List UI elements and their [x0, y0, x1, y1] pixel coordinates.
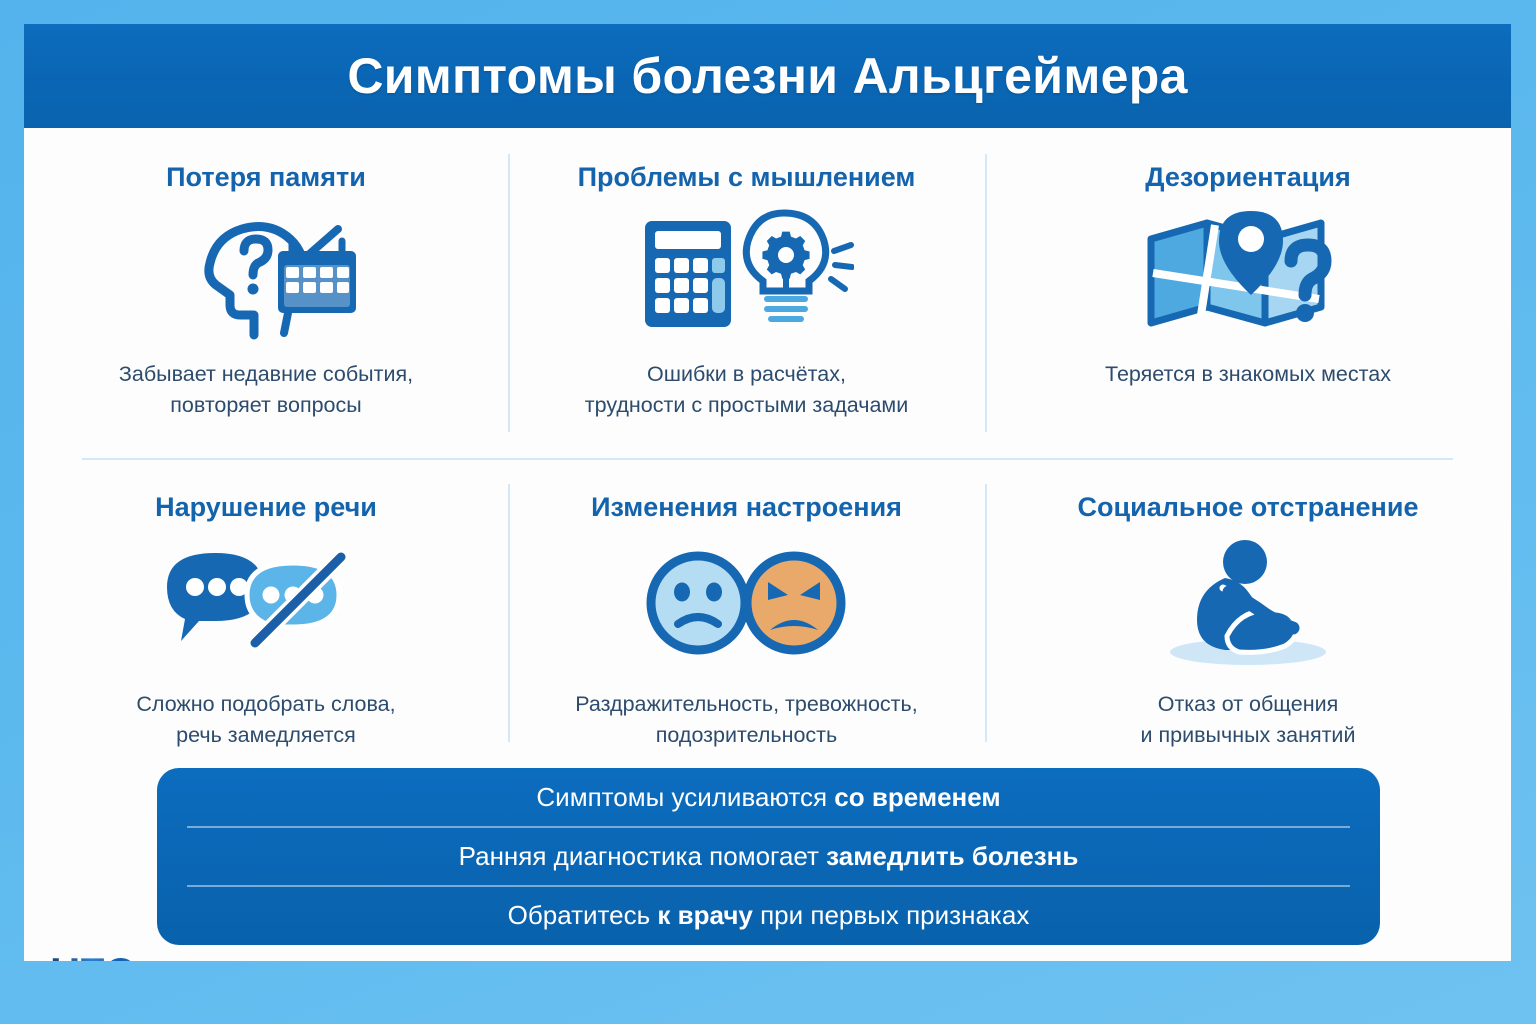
sad-angry-faces-icon [642, 533, 852, 673]
card-description-line1: Ошибки в расчётах, [585, 359, 908, 390]
key-message-bold: замедлить болезнь [826, 841, 1078, 871]
card-description: Сложно подобрать слова, речь замедляется [136, 689, 395, 751]
card-title: Проблемы с мышлением [578, 162, 916, 193]
key-message-plain: Ранняя диагностика помогает [459, 841, 827, 871]
key-message-line: Симптомы усиливаются со временем [187, 769, 1350, 826]
card-description-line1: Забывает недавние события, [119, 359, 413, 390]
key-message-plain-tail: при первых признаках [753, 900, 1029, 930]
symptom-card-memory-loss[interactable]: Потеря памяти [24, 128, 508, 458]
key-message-plain: Обратитесь [508, 900, 658, 930]
poster-canvas: Симптомы болезни Альцгеймера Потеря памя… [24, 24, 1511, 961]
brand-logo: НЕО+ [50, 952, 158, 961]
card-description: Отказ от общения и привычных занятий [1141, 689, 1356, 751]
symptom-card-disorientation[interactable]: Дезориентация [985, 128, 1511, 458]
card-description-line1: Сложно подобрать слова, [136, 689, 395, 720]
key-messages-panel: Симптомы усиливаются со временем Ранняя … [157, 768, 1380, 945]
page-title: Симптомы болезни Альцгеймера [347, 47, 1187, 105]
card-title: Нарушение речи [155, 492, 377, 523]
card-description: Ошибки в расчётах, трудности с простыми … [585, 359, 908, 421]
symptom-card-thinking-problems[interactable]: Проблемы с мышлением [508, 128, 985, 458]
key-message-line: Обратитесь к врачу при первых признаках [187, 885, 1350, 944]
poster-root: Симптомы болезни Альцгеймера Потеря памя… [0, 0, 1536, 1024]
card-description-line2: речь замедляется [136, 720, 395, 751]
card-description-line1: Теряется в знакомых местах [1105, 359, 1391, 390]
calculator-lightbulb-gear-icon [639, 203, 854, 343]
key-message-bold: к врачу [657, 900, 752, 930]
card-description-line1: Отказ от общения [1141, 689, 1356, 720]
card-description-line2: повторяет вопросы [119, 390, 413, 421]
card-description: Забывает недавние события, повторяет воп… [119, 359, 413, 421]
symptom-card-mood-changes[interactable]: Изменения настроения [508, 458, 985, 768]
card-title: Изменения настроения [591, 492, 902, 523]
symptom-card-speech-impairment[interactable]: Нарушение речи [24, 458, 508, 768]
card-description: Раздражительность, тревожность, подозрит… [575, 689, 917, 751]
card-title: Дезориентация [1145, 162, 1350, 193]
key-message-plain: Симптомы усиливаются [536, 782, 834, 812]
header-band: Симптомы болезни Альцгеймера [24, 24, 1511, 128]
sitting-person-icon [1153, 533, 1343, 673]
map-pin-question-icon [1143, 203, 1353, 343]
card-description-line1: Раздражительность, тревожность, [575, 689, 917, 720]
symptom-grid: Потеря памяти [24, 128, 1511, 768]
key-message-line: Ранняя диагностика помогает замедлить бо… [187, 826, 1350, 885]
card-description-line2: подозрительность [575, 720, 917, 751]
card-title: Социальное отстранение [1078, 492, 1419, 523]
symptom-card-social-withdrawal[interactable]: Социальное отстранение [985, 458, 1511, 768]
speech-bubbles-slash-icon [159, 533, 374, 673]
card-description: Теряется в знакомых местах [1105, 359, 1391, 390]
card-description-line2: и привычных занятий [1141, 720, 1356, 751]
card-title: Потеря памяти [166, 162, 366, 193]
head-question-calendar-icon [166, 203, 366, 343]
key-message-bold: со временем [834, 782, 1000, 812]
card-description-line2: трудности с простыми задачами [585, 390, 908, 421]
